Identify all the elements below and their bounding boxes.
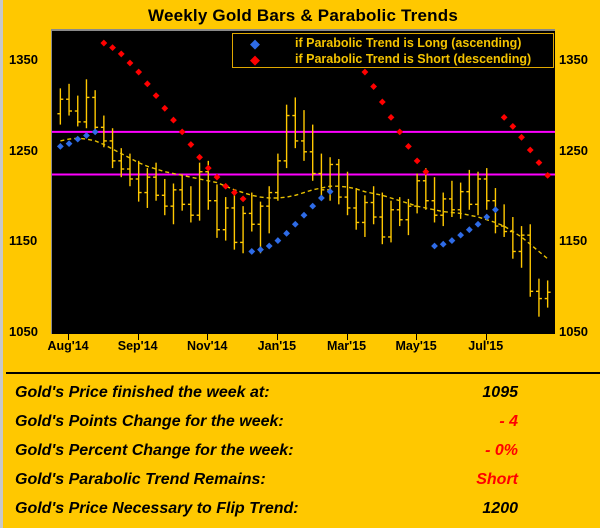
sar-dot-short — [509, 123, 516, 130]
summary-row-label: Gold's Price finished the week at: — [15, 378, 270, 407]
sar-dot-short — [109, 44, 116, 51]
ohlc-bar — [353, 188, 359, 230]
summary-table: Gold's Price finished the week at:1095Go… — [3, 378, 600, 523]
chart-page: Weekly Gold Bars & Parabolic Trends ◆ if… — [0, 0, 600, 528]
sar-dot-long — [440, 241, 447, 248]
sar-dot-long — [318, 195, 325, 202]
ohlc-bar — [536, 279, 542, 317]
ohlc-bar — [188, 186, 194, 222]
sar-dot-long — [274, 237, 281, 244]
summary-row-value: - 4 — [303, 407, 518, 436]
sar-dot-short — [405, 143, 412, 150]
ohlc-bar — [118, 148, 124, 177]
sar-dot-short — [231, 189, 238, 196]
sar-dot-short — [362, 69, 369, 76]
ohlc-bar — [545, 280, 551, 307]
ohlc-bar — [510, 217, 516, 259]
ohlc-bar — [362, 195, 368, 237]
sar-dot-short — [414, 157, 421, 164]
sar-dot-long — [475, 221, 482, 228]
ohlc-bar — [292, 97, 298, 148]
ohlc-bar — [379, 193, 385, 245]
ohlc-bar — [171, 184, 177, 225]
summary-row: Gold's Percent Change for the week:- 0% — [3, 436, 600, 465]
summary-row-label: Gold's Percent Change for the week: — [15, 436, 294, 465]
summary-row-value: - 0% — [303, 436, 518, 465]
ohlc-bar — [440, 193, 446, 227]
ohlc-bar — [127, 154, 133, 187]
y-axis-tick-label: 1050 — [559, 325, 588, 338]
ohlc-bar — [66, 84, 72, 116]
sar-dot-short — [187, 141, 194, 148]
ohlc-bar — [275, 154, 281, 201]
ohlc-bar — [214, 184, 220, 237]
sar-dot-short — [196, 154, 203, 161]
sar-dot-short — [127, 60, 134, 67]
ohlc-bar — [249, 193, 255, 232]
ohlc-bar — [414, 174, 420, 214]
y-axis-tick-label: 1250 — [559, 144, 588, 157]
sar-dot-short — [179, 128, 186, 135]
ohlc-bar — [336, 159, 342, 204]
y-axis-tick-label: 1050 — [9, 325, 38, 338]
ohlc-bar — [92, 90, 98, 132]
ohlc-bar — [371, 186, 377, 224]
sar-dot-long — [483, 214, 490, 221]
sar-dot-short — [370, 83, 377, 90]
ohlc-bar — [284, 105, 290, 168]
sar-dot-short — [388, 114, 395, 121]
y-axis-tick-label: 1150 — [559, 234, 587, 247]
x-axis-tick-label: Sep'14 — [98, 340, 178, 353]
sar-dot-short — [144, 80, 151, 87]
sar-dot-long — [466, 226, 473, 233]
sar-dot-long — [457, 232, 464, 239]
summary-row: Gold's Price finished the week at:1095 — [3, 378, 600, 407]
ohlc-bar — [449, 181, 455, 217]
ohlc-bar — [466, 170, 472, 210]
sar-dot-short — [222, 183, 229, 190]
ohlc-bar — [136, 161, 142, 202]
ohlc-bar — [223, 197, 229, 240]
ohlc-bar — [83, 79, 89, 128]
chart-plot-area: ◆ if Parabolic Trend is Long (ascending)… — [51, 29, 555, 334]
sar-dot-long — [257, 246, 264, 253]
x-axis-tick-label: Jul'15 — [446, 340, 526, 353]
y-axis-tick-label: 1150 — [9, 234, 37, 247]
ohlc-bar — [519, 226, 525, 268]
sar-dot-short — [205, 165, 212, 172]
summary-row-value: 1095 — [303, 378, 518, 407]
y-axis-tick-label: 1350 — [559, 53, 588, 66]
ohlc-bar — [501, 204, 507, 237]
sar-dot-short — [501, 114, 508, 121]
summary-row-label: Gold's Parabolic Trend Remains: — [15, 465, 266, 494]
page-title: Weekly Gold Bars & Parabolic Trends — [3, 6, 600, 26]
summary-row: Gold's Price Necessary to Flip Trend:120… — [3, 494, 600, 523]
section-divider — [6, 372, 600, 374]
y-axis-tick-label: 1250 — [9, 144, 38, 157]
ohlc-bar — [231, 190, 237, 250]
summary-row: Gold's Points Change for the week:- 4 — [3, 407, 600, 436]
sar-dot-short — [118, 51, 125, 58]
sar-dot-long — [449, 237, 456, 244]
sar-dot-long — [74, 136, 81, 143]
sar-dot-long — [66, 140, 73, 147]
summary-row-label: Gold's Price Necessary to Flip Trend: — [15, 494, 299, 523]
legend-label-short: if Parabolic Trend is Short (descending) — [295, 51, 531, 67]
ohlc-bar — [162, 179, 168, 215]
legend-item-short: ◆ if Parabolic Trend is Short (descendin… — [247, 51, 553, 67]
sar-dot-long — [292, 221, 299, 228]
ohlc-bar — [197, 163, 203, 221]
ohlc-bar — [397, 197, 403, 226]
ohlc-bar — [57, 88, 63, 124]
sar-dot-short — [379, 99, 386, 106]
sar-dot-short — [135, 69, 142, 76]
sar-dot-long — [92, 128, 99, 135]
sar-dot-short — [536, 159, 543, 166]
legend-label-long: if Parabolic Trend is Long (ascending) — [295, 35, 521, 51]
summary-row-value: Short — [303, 465, 518, 494]
sar-dot-long — [83, 132, 90, 139]
sar-dot-long — [431, 243, 438, 250]
summary-row-value: 1200 — [303, 494, 518, 523]
ohlc-chart-svg — [52, 31, 555, 334]
sar-dot-short — [518, 134, 525, 141]
ohlc-bar — [179, 174, 185, 210]
red-diamond-icon: ◆ — [247, 53, 263, 66]
y-axis-tick-label: 1350 — [9, 53, 38, 66]
sar-dot-short — [544, 172, 551, 179]
summary-row: Gold's Parabolic Trend Remains:Short — [3, 465, 600, 494]
ohlc-bar — [527, 224, 533, 296]
ohlc-bar — [475, 172, 481, 215]
ohlc-bar — [310, 125, 316, 181]
x-axis-tick-label: Mar'15 — [307, 340, 387, 353]
x-axis-tick-label: Aug'14 — [28, 340, 108, 353]
sar-dot-short — [240, 196, 247, 203]
sar-dot-short — [153, 92, 160, 99]
sar-dot-short — [396, 128, 403, 135]
sar-dot-long — [301, 212, 308, 219]
blue-diamond-icon: ◆ — [247, 37, 263, 50]
sar-dot-long — [266, 243, 273, 250]
sar-dot-short — [161, 105, 168, 112]
ohlc-bar — [388, 201, 394, 243]
legend-item-long: ◆ if Parabolic Trend is Long (ascending) — [247, 35, 553, 51]
ohlc-bar — [258, 202, 264, 254]
sar-dot-short — [100, 40, 107, 47]
sar-dot-long — [309, 203, 316, 210]
ohlc-bar — [345, 172, 351, 215]
sar-dot-short — [527, 147, 534, 154]
x-axis-tick-label: Jan'15 — [237, 340, 317, 353]
sar-dot-long — [492, 206, 499, 213]
sar-dot-long — [57, 143, 64, 150]
ohlc-bar — [301, 110, 307, 161]
ohlc-bar — [240, 206, 246, 253]
x-axis-tick-label: Nov'14 — [167, 340, 247, 353]
x-axis-tick-label: May'15 — [376, 340, 456, 353]
ohlc-bar — [432, 177, 438, 222]
summary-row-label: Gold's Points Change for the week: — [15, 407, 284, 436]
ohlc-bar — [75, 96, 81, 127]
sar-dot-long — [248, 248, 255, 255]
chart-legend: ◆ if Parabolic Trend is Long (ascending)… — [232, 33, 554, 68]
sar-dot-long — [283, 230, 290, 237]
ohlc-bar — [266, 186, 272, 233]
sar-dot-short — [170, 117, 177, 124]
